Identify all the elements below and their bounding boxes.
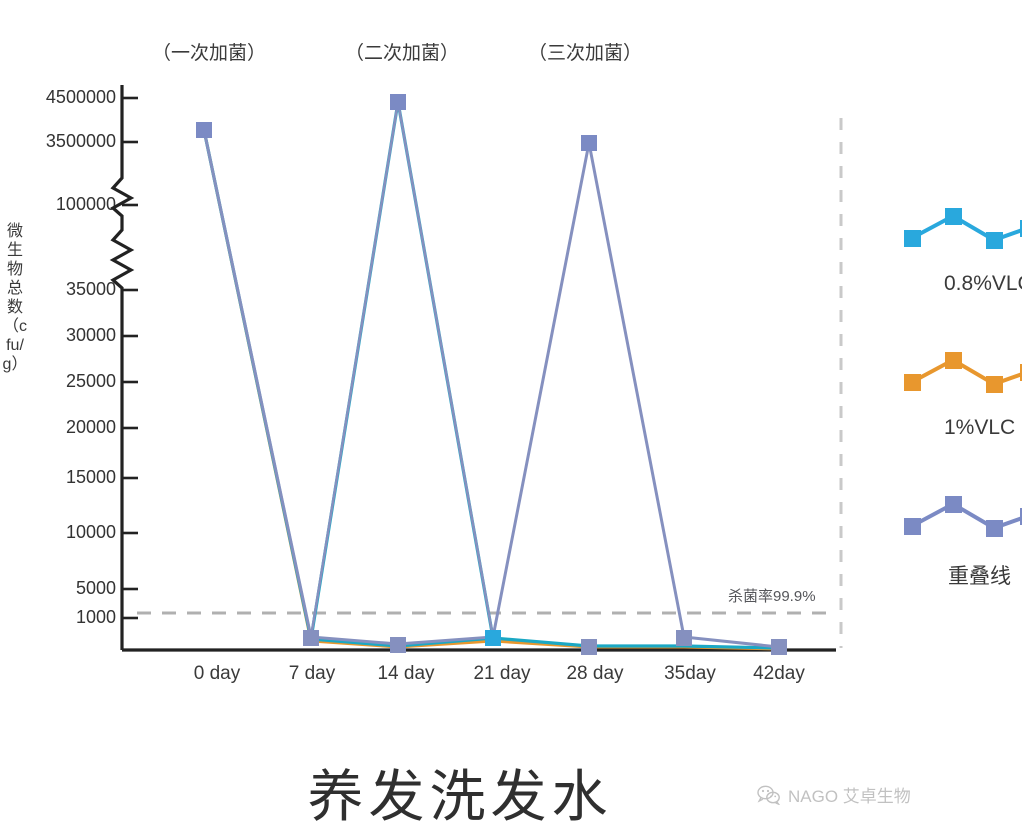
legend-swatch-icon: [900, 340, 1022, 402]
plot-area: [0, 0, 1022, 829]
x-tick-label-28day: 28 day: [566, 663, 623, 685]
series-line-1pct-vlc: [204, 130, 779, 649]
footer-brand: NAGO 艾卓生物: [757, 782, 911, 807]
x-tick-label-7day: 7 day: [289, 663, 335, 685]
series-line-0-8pct-vlc: [204, 130, 779, 648]
y-axis-ticks: [122, 98, 138, 618]
data-point-marker-peak-0day: [196, 122, 212, 138]
x-tick-label-14day: 14 day: [377, 663, 434, 685]
chart-page: （一次加菌） （二次加菌） （三次加菌） 微生物总数（cfu/g） 450000…: [0, 0, 1022, 829]
legend-entry-0-8pct-vlc[interactable]: 0.8%VLC: [900, 196, 1022, 306]
x-tick-label-0day: 0 day: [194, 663, 240, 685]
x-tick-label-42day: 42day: [753, 663, 805, 685]
legend-label-1pct-vlc: 1%VLC: [944, 416, 1015, 440]
series-line-overlap: [204, 130, 779, 647]
data-point-marker-14day-low: [390, 637, 406, 653]
legend-swatch-icon: [900, 484, 1022, 546]
data-point-marker-peak-28day: [581, 135, 597, 151]
series-line-overlap-peak2: [311, 102, 493, 637]
legend: 0.8%VLC 1%VLC 重叠线: [900, 196, 1022, 628]
data-point-marker-7day: [303, 630, 319, 646]
x-tick-label-35day: 35day: [664, 663, 716, 685]
legend-entry-1pct-vlc[interactable]: 1%VLC: [900, 340, 1022, 450]
series-line-0-8pct-vlc-peak2: [311, 102, 493, 639]
legend-label-overlap-line: 重叠线: [948, 560, 1011, 590]
data-point-marker-35day: [676, 630, 692, 646]
legend-entry-overlap-line[interactable]: 重叠线: [900, 484, 1022, 594]
legend-swatch-icon: [900, 196, 1022, 258]
y-axis-spine: [113, 85, 131, 650]
data-point-marker-21day: [485, 630, 501, 646]
legend-label-0-8pct-vlc: 0.8%VLC: [944, 272, 1022, 296]
x-tick-label-21day: 21 day: [473, 663, 530, 685]
footer-brand-text: NAGO 艾卓生物: [788, 782, 911, 807]
wechat-icon: [757, 785, 781, 805]
data-point-marker-42day: [771, 639, 787, 655]
threshold-annotation-label: 杀菌率99.9%: [728, 585, 816, 606]
data-point-marker-28day-low: [581, 639, 597, 655]
data-point-marker-peak-14day: [390, 94, 406, 110]
